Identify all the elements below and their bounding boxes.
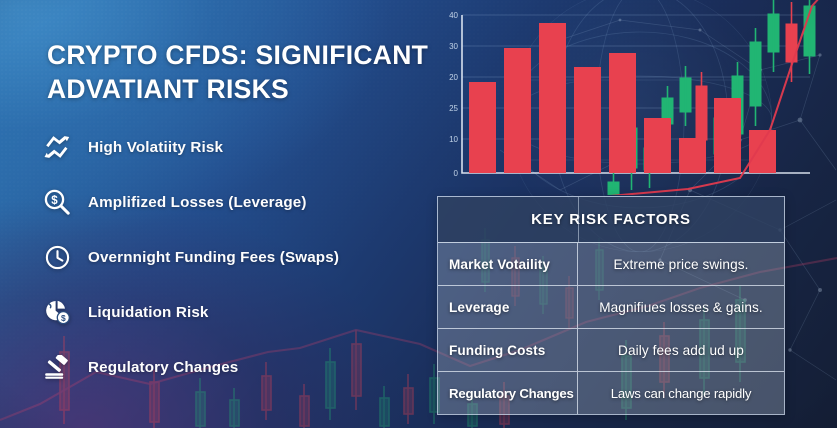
list-item-funding-fees[interactable]: Overnnight Funding Fees (Swaps) <box>40 243 440 271</box>
clock-icon <box>40 242 74 272</box>
table-cell-factor: Funding Costs <box>438 329 578 371</box>
bar <box>714 98 741 173</box>
bar <box>504 48 531 173</box>
table-cell-factor: Leverage <box>438 286 578 328</box>
chart-svg: 40 30 20 25 10 0 <box>440 0 837 195</box>
list-item-regulatory-changes[interactable]: Regulatory Changes <box>40 353 440 381</box>
table-row[interactable]: Funding Costs Daily fees add ud up <box>438 329 784 372</box>
bar <box>609 53 636 173</box>
table-row[interactable]: Market Votaility Extreme price swings. <box>438 243 784 286</box>
table-header: KEY RISK FACTORS <box>438 197 784 243</box>
table-cell-factor: Regulatory Changes <box>438 372 578 414</box>
table-title: KEY RISK FACTORS <box>531 211 691 228</box>
bar <box>469 82 496 173</box>
list-item-label: Regulatory Changes <box>88 359 238 376</box>
svg-text:$: $ <box>61 313 66 323</box>
globe-coin-liquidation-icon: $ <box>40 297 74 327</box>
volatility-zigzag-arrows-icon <box>40 132 74 162</box>
list-item-liquidation-risk[interactable]: $ Liquidation Risk <box>40 298 440 326</box>
svg-text:10: 10 <box>449 135 458 144</box>
table-cell-detail: Magnifiues losses & gains. <box>578 286 784 328</box>
svg-text:$: $ <box>51 195 58 207</box>
svg-text:0: 0 <box>454 169 459 178</box>
risk-list: High Volatiity Risk $ Amplifized Losses … <box>40 133 440 408</box>
table-cell-detail: Daily fees add ud up <box>578 329 784 371</box>
svg-text:25: 25 <box>449 104 458 113</box>
bar <box>574 67 601 173</box>
bar <box>749 130 776 173</box>
table-row[interactable]: Regulatory Changes Laws can change rapid… <box>438 372 784 414</box>
table-row[interactable]: Leverage Magnifiues losses & gains. <box>438 286 784 329</box>
list-item-amplified-losses[interactable]: $ Amplifized Losses (Leverage) <box>40 188 440 216</box>
list-item-label: Overnnight Funding Fees (Swaps) <box>88 249 339 266</box>
list-item-label: Amplifized Losses (Leverage) <box>88 194 307 211</box>
list-item-label: Liquidation Risk <box>88 304 209 321</box>
svg-text:40: 40 <box>449 11 458 20</box>
table-cell-detail: Laws can change rapidly <box>578 372 784 414</box>
gavel-icon <box>40 352 74 382</box>
slide-root: CRYPTO CFDS: SIGNIFICANT ADVATIANT RISKS… <box>0 0 837 428</box>
table-cell-detail: Extreme price swings. <box>578 243 784 285</box>
magnifier-dollar-icon: $ <box>40 187 74 217</box>
list-item-label: High Volatiity Risk <box>88 139 223 156</box>
svg-text:30: 30 <box>449 42 458 51</box>
page-title: CRYPTO CFDS: SIGNIFICANT ADVATIANT RISKS <box>47 38 467 107</box>
chart-candlesticks <box>608 0 815 195</box>
chart-y-tick-labels: 40 30 20 25 10 0 <box>449 11 458 178</box>
bar <box>644 118 671 173</box>
svg-text:20: 20 <box>449 73 458 82</box>
bar <box>539 23 566 173</box>
chart-bars <box>469 23 776 173</box>
table-cell-factor: Market Votaility <box>438 243 578 285</box>
bar-candlestick-chart: 40 30 20 25 10 0 <box>440 0 837 195</box>
list-item-high-volatility[interactable]: High Volatiity Risk <box>40 133 440 161</box>
key-risk-factors-table: KEY RISK FACTORS Market Votaility Extrem… <box>437 196 785 415</box>
bar <box>679 138 706 173</box>
